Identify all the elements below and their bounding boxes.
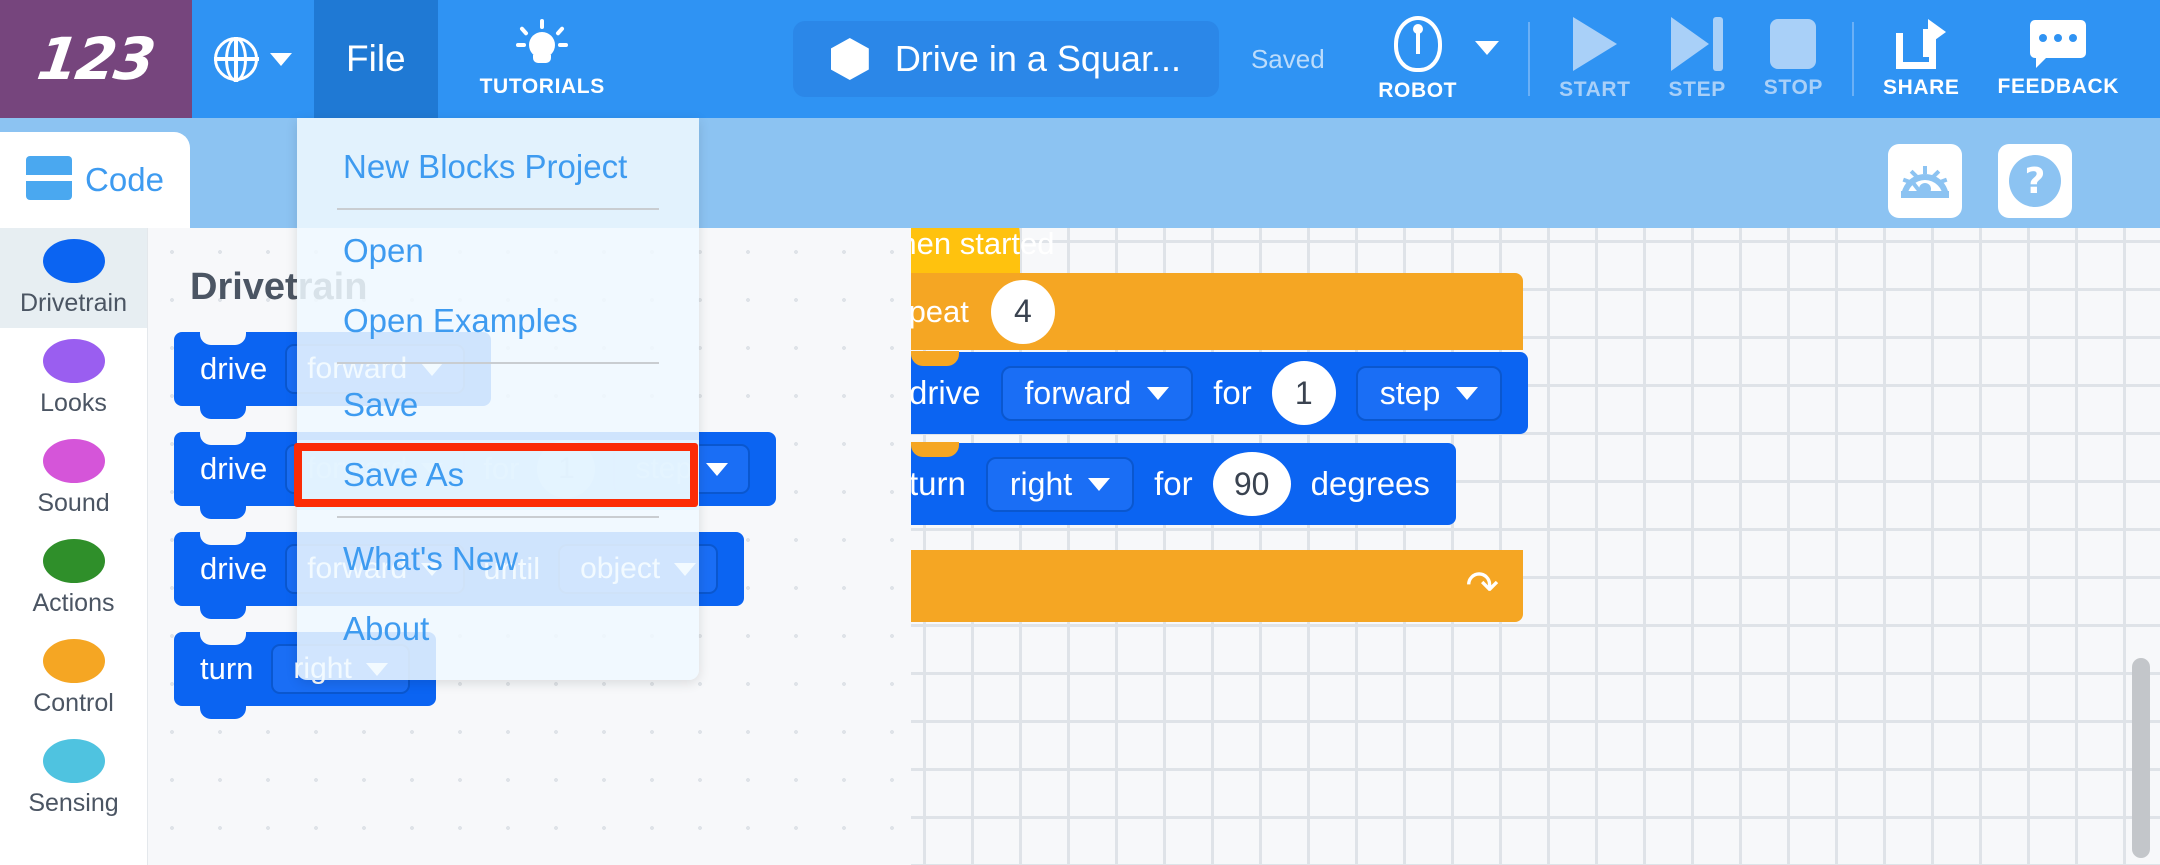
menu-separator [337,362,659,364]
block-dropdown-direction[interactable]: right [986,457,1134,512]
project-title-area: Drive in a Squar... Saved [793,21,1325,97]
menu-item-label: What's New [343,540,518,577]
gauge-icon [1901,164,1949,198]
menu-item-save[interactable]: Save [297,370,699,440]
category-color-dot [43,439,105,483]
chevron-down-icon [1475,41,1499,55]
dashboard-button[interactable] [1888,144,1962,218]
dropdown-value: step [1380,375,1440,412]
sidebar-item-label: Control [33,689,114,718]
block-label: drive [200,451,267,487]
feedback-button[interactable]: FEEDBACK [1979,0,2138,118]
block-label: drive [200,351,267,387]
step-forward-icon [1671,17,1723,71]
toolbar-actions: ROBOT START STEP STOP [1359,0,2138,118]
feedback-label: FEEDBACK [1998,75,2119,99]
project-name-button[interactable]: Drive in a Squar... [793,21,1219,97]
block-dropdown-direction[interactable]: forward [1001,366,1194,421]
block-repeat-footer[interactable]: ↷ [911,550,1523,622]
robot-button[interactable]: ROBOT [1359,0,1518,118]
dropdown-value: forward [1025,375,1132,412]
block-label: turn [200,651,253,687]
chevron-down-icon [1456,387,1478,400]
block-label: drive [200,551,267,587]
speech-bubble-icon [2030,20,2086,68]
chevron-down-icon [1088,478,1110,491]
logo-text: 123 [34,25,159,93]
menu-item-label: Save As [343,456,464,493]
menu-item-save-as[interactable]: Save As [297,440,699,510]
play-icon [1573,17,1617,71]
file-menu-button[interactable]: File [314,0,438,118]
category-color-dot [43,239,105,283]
menu-item-open-examples[interactable]: Open Examples [297,286,699,356]
menu-item-label: New Blocks Project [343,148,627,185]
tutorials-button[interactable]: TUTORIALS [452,0,633,118]
block-turn-right[interactable]: turn right for 90 degrees [911,443,1456,525]
block-label: drive [911,374,981,412]
sidebar-item-label: Sensing [28,789,118,818]
start-button[interactable]: START [1540,0,1649,118]
tab-code-label: Code [85,161,164,199]
menu-item-open[interactable]: Open [297,216,699,286]
block-dropdown-unit[interactable]: step [1356,366,1502,421]
dropdown-value: right [1010,466,1072,503]
menu-item-label: Save [343,386,418,423]
stop-square-icon [1770,19,1816,69]
share-icon [1896,19,1946,69]
step-button[interactable]: STEP [1650,0,1745,118]
sidebar-item-label: Actions [33,589,115,618]
sidebar-item-actions[interactable]: Actions [0,528,147,628]
file-menu-label: File [346,38,406,80]
lightbulb-icon [514,19,570,71]
category-sidebar: Drivetrain Looks Sound Actions Control S… [0,228,148,865]
top-toolbar: 123 File TUTORIALS [0,0,2160,118]
share-label: SHARE [1883,76,1960,100]
category-color-dot [43,539,105,583]
block-label: repeat [911,294,969,330]
tab-code[interactable]: Code [0,132,190,228]
question-mark-icon: ? [2009,155,2061,207]
menu-item-whats-new[interactable]: What's New [297,524,699,594]
toolbar-divider [1528,22,1530,96]
vexcode-vr-app: 123 File TUTORIALS [0,0,2160,865]
hexagon-icon [831,38,869,80]
project-name: Drive in a Squar... [895,38,1181,80]
step-label: STEP [1669,78,1726,102]
menu-item-label: About [343,610,429,647]
sidebar-item-label: Looks [40,389,107,418]
file-dropdown-menu: New Blocks Project Open Open Examples Sa… [297,118,699,680]
toolbar-divider [1852,22,1854,96]
chevron-down-icon [1147,387,1169,400]
menu-item-label: Open Examples [343,302,578,339]
block-drive-forward[interactable]: drive forward for 1 step [911,352,1528,434]
category-color-dot [43,339,105,383]
sidebar-item-drivetrain[interactable]: Drivetrain [0,228,147,328]
category-color-dot [43,739,105,783]
menu-separator [337,208,659,210]
sidebar-item-control[interactable]: Control [0,628,147,728]
help-button[interactable]: ? [1998,144,2072,218]
block-label: when started [911,228,1055,262]
menu-item-about[interactable]: About [297,594,699,664]
workspace-scrollbar-right[interactable] [2132,658,2150,858]
stop-button[interactable]: STOP [1745,0,1842,118]
save-status: Saved [1251,44,1325,75]
sidebar-item-sensing[interactable]: Sensing [0,728,147,828]
app-logo[interactable]: 123 [0,0,192,118]
sidebar-item-sound[interactable]: Sound [0,428,147,528]
blocks-icon [26,156,72,204]
loop-arrow-icon: ↷ [1465,566,1499,606]
block-number-input[interactable]: 4 [991,280,1055,344]
sidebar-item-label: Sound [37,489,109,518]
chevron-down-icon [706,463,728,476]
start-label: START [1559,78,1630,102]
chevron-down-icon [270,53,292,66]
category-color-dot [43,639,105,683]
block-unit-label: degrees [1311,465,1430,503]
block-preposition: for [1154,465,1193,503]
code-workspace[interactable]: when started repeat 4 ↷ drive forward fo… [911,228,2160,865]
tutorials-label: TUTORIALS [480,75,605,99]
block-preposition: for [1213,374,1252,412]
share-button[interactable]: SHARE [1864,0,1979,118]
sidebar-item-looks[interactable]: Looks [0,328,147,428]
menu-item-new-blocks-project[interactable]: New Blocks Project [297,132,699,202]
stop-label: STOP [1764,76,1823,100]
robot-icon [1394,16,1442,72]
menu-separator [337,516,659,518]
language-selector[interactable] [192,0,314,118]
menu-item-label: Open [343,232,424,269]
block-repeat-header[interactable]: repeat 4 [911,273,1523,350]
block-label: turn [911,465,966,503]
sidebar-item-label: Drivetrain [20,289,127,318]
block-number-input[interactable]: 90 [1213,452,1291,516]
robot-label: ROBOT [1378,79,1457,103]
globe-icon [214,37,258,81]
block-number-input[interactable]: 1 [1272,361,1336,425]
